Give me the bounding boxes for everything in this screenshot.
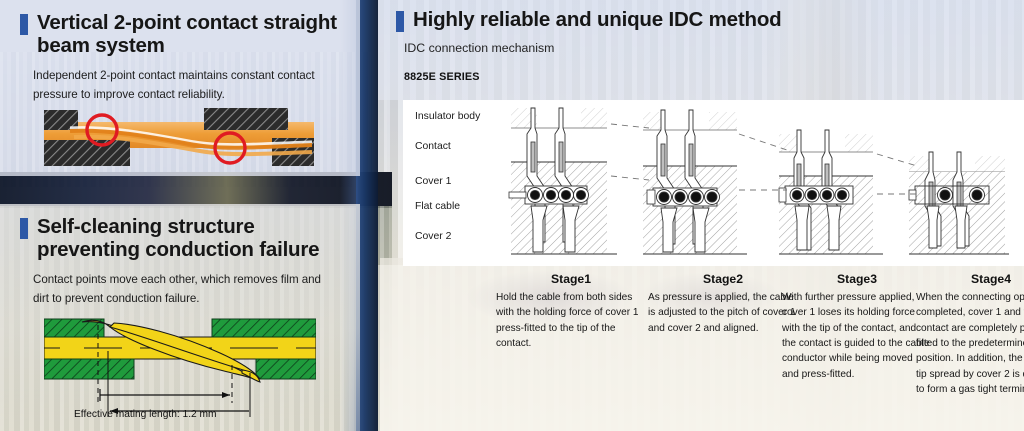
stage-3-cross-section (779, 130, 883, 254)
selfclean-heading-row: Self-cleaning structure preventing condu… (0, 204, 360, 262)
drawing-label-contact: Contact (415, 141, 451, 152)
idc-subtitle: IDC connection mechanism (404, 41, 1024, 55)
idc-cross-section-drawings (499, 102, 1019, 264)
page-root: Vertical 2-point contact straight beam s… (0, 0, 1024, 431)
drawing-label-cover-2: Cover 2 (415, 231, 451, 242)
stage-2-cross-section (643, 110, 747, 254)
vertical-section-body: Independent 2-point contact maintains co… (33, 67, 334, 105)
stage-caption-4: Stage4 When the connecting operation is … (916, 272, 1024, 397)
selfclean-section-title: Self-cleaning structure preventing condu… (37, 215, 342, 262)
effective-mating-length-label: Effective mating length: 1.2 mm (74, 409, 217, 420)
accent-bar-icon (396, 11, 404, 32)
idc-drawing-card: Insulator body Contact Cover 1 Flat cabl… (403, 100, 1024, 266)
section-idc-method: Highly reliable and unique IDC method ID… (378, 0, 1024, 431)
section-self-cleaning-structure: Self-cleaning structure preventing condu… (0, 204, 360, 431)
vertical-2-point-contact-diagram (44, 104, 314, 170)
idc-drawing-label-column: Insulator body Contact Cover 1 Flat cabl… (415, 100, 507, 266)
idc-series-label: 8825E SERIES (404, 71, 1024, 83)
stage-caption-1: Stage1 Hold the cable from both sides wi… (496, 272, 646, 351)
selfclean-section-body: Contact points move each other, which re… (33, 271, 334, 309)
drawing-label-cover-1: Cover 1 (415, 176, 451, 187)
drawing-label-flat-cable: Flat cable (415, 201, 460, 212)
vertical-heading-row: Vertical 2-point contact straight beam s… (0, 0, 360, 58)
stage-1-text: Hold the cable from both sides with the … (496, 290, 646, 351)
stage-4-text: When the connecting operation is complet… (916, 290, 1024, 397)
stage-4-cross-section (909, 152, 1009, 254)
stage-caption-3: Stage3 With further pressure applied, co… (782, 272, 932, 382)
stage-caption-2: Stage2 As pressure is applied, the cable… (648, 272, 798, 336)
accent-bar-icon (20, 218, 28, 239)
self-cleaning-structure-diagram: Effective mating length: 1.2 mm (44, 307, 316, 425)
stage-2-text: As pressure is applied, the cable is adj… (648, 290, 798, 336)
vertical-section-title: Vertical 2-point contact straight beam s… (37, 11, 342, 58)
stage-3-title: Stage3 (782, 272, 932, 286)
stage-4-title: Stage4 (916, 272, 1024, 286)
accent-bar-icon (20, 14, 28, 35)
stage-3-text: With further pressure applied, cover 1 l… (782, 290, 932, 382)
idc-section-title: Highly reliable and unique IDC method (413, 8, 781, 31)
idc-stage-captions: Stage1 Hold the cable from both sides wi… (378, 272, 1024, 431)
idc-heading-row: Highly reliable and unique IDC method (378, 0, 1024, 32)
stage-1-cross-section (509, 108, 617, 254)
stage-1-title: Stage1 (496, 272, 646, 286)
section-vertical-2-point-contact: Vertical 2-point contact straight beam s… (0, 0, 360, 176)
stage-2-title: Stage2 (648, 272, 798, 286)
content-root: Vertical 2-point contact straight beam s… (0, 0, 1024, 431)
drawing-label-insulator-body: Insulator body (415, 111, 480, 122)
